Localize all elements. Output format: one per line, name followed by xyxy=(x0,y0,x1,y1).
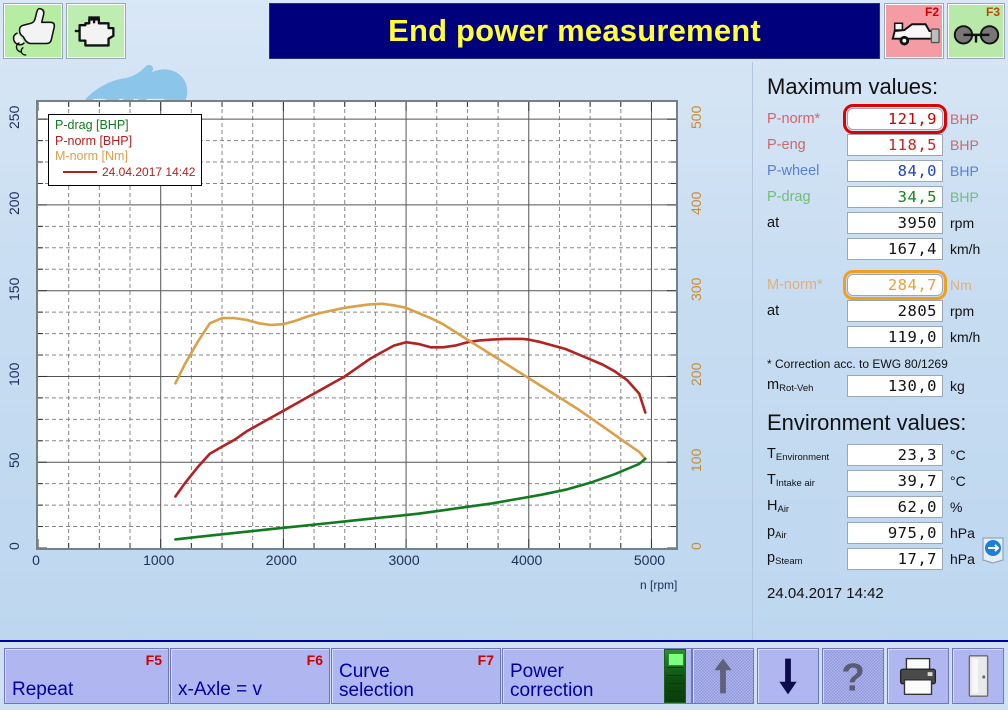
env-unit: °C xyxy=(950,473,966,489)
env-value: 62,0 xyxy=(847,496,943,518)
roller-button[interactable]: F3 xyxy=(947,3,1005,59)
curve-p-norm xyxy=(175,339,645,497)
scroll-up-button[interactable] xyxy=(692,648,754,704)
chart-legend: P-drag [BHP] P-norm [BHP] M-norm [Nm] 24… xyxy=(48,114,202,186)
max-value-unit: BHP xyxy=(950,137,979,153)
max-value-value: 34,5 xyxy=(847,186,943,208)
car-icon xyxy=(885,4,943,58)
y-tick-left: 150 xyxy=(6,271,22,307)
max-value-value: 84,0 xyxy=(847,160,943,182)
exit-button[interactable] xyxy=(952,648,1004,704)
legend-run-timestamp: 24.04.2017 14:42 xyxy=(102,165,195,179)
max-value-unit: BHP xyxy=(950,189,979,205)
max-value-unit: BHP xyxy=(950,163,979,179)
max-value-label: P-eng xyxy=(767,137,847,153)
sync-icon[interactable] xyxy=(980,534,1006,564)
y-tick-left: 100 xyxy=(6,356,22,392)
max-values-heading: Maximum values: xyxy=(767,74,1000,100)
torque-values-list: M-norm*284,7Nmat2805rpm119,0km/h xyxy=(767,272,1000,349)
max-value-row: P-norm*121,9BHP xyxy=(767,106,1000,131)
env-label: TIntake air xyxy=(767,472,847,489)
curve-p-drag xyxy=(175,459,645,540)
env-value: 23,3 xyxy=(847,444,943,466)
dyno-chart: 050100150200250 0100200300400500 0100020… xyxy=(0,62,752,640)
x-axis-title: n [rpm] xyxy=(640,578,677,592)
max-value-unit: km/h xyxy=(950,241,980,257)
function-key-label: F7 xyxy=(478,652,494,668)
mass-row: mRot-Veh 130,0 kg xyxy=(767,373,1000,398)
env-unit: hPa xyxy=(950,525,975,541)
function-button-label: x-Axle = v xyxy=(178,680,262,699)
max-value-row: P-eng118,5BHP xyxy=(767,132,1000,157)
x-tick: 2000 xyxy=(259,552,303,568)
torque-value-row: 119,0km/h xyxy=(767,324,1000,349)
max-value-row: at3950rpm xyxy=(767,210,1000,235)
y-tick-right: 300 xyxy=(688,271,704,307)
torque-value-row: at2805rpm xyxy=(767,298,1000,323)
torque-value-label: at xyxy=(767,303,847,319)
y-tick-right: 0 xyxy=(688,528,704,564)
y-tick-right: 200 xyxy=(688,356,704,392)
env-unit: °C xyxy=(950,447,966,463)
max-value-value: 3950 xyxy=(847,212,943,234)
env-row: HAir62,0% xyxy=(767,494,1000,519)
max-value-label: P-wheel xyxy=(767,163,847,179)
env-row: TEnvironment23,3°C xyxy=(767,442,1000,467)
max-value-value: 118,5 xyxy=(847,134,943,156)
env-values-heading: Environment values: xyxy=(767,410,1000,436)
legend-run-row: 24.04.2017 14:42 xyxy=(55,165,196,181)
max-value-row: P-drag34,5BHP xyxy=(767,184,1000,209)
env-label: TEnvironment xyxy=(767,446,847,463)
up-arrow-icon xyxy=(693,649,753,703)
env-value: 39,7 xyxy=(847,470,943,492)
x-tick: 5000 xyxy=(627,552,671,568)
max-value-unit: rpm xyxy=(950,215,974,231)
env-values-list: TEnvironment23,3°CTIntake air39,7°CHAir6… xyxy=(767,442,1000,571)
x-tick: 0 xyxy=(14,552,58,568)
torque-value-unit: rpm xyxy=(950,303,974,319)
env-row: TIntake air39,7°C xyxy=(767,468,1000,493)
y-tick-right: 100 xyxy=(688,442,704,478)
measurement-timestamp: 24.04.2017 14:42 xyxy=(767,585,1000,602)
max-value-row: 167,4km/h xyxy=(767,236,1000,261)
legend-item-m-norm: M-norm [Nm] xyxy=(55,149,196,165)
max-value-value: 167,4 xyxy=(847,238,943,260)
repeat-button[interactable]: F5Repeat xyxy=(4,648,169,704)
question-mark-icon: ? xyxy=(823,649,883,703)
help-button[interactable]: ? xyxy=(822,648,884,704)
legend-item-p-drag: P-drag [BHP] xyxy=(55,118,196,134)
printer-icon xyxy=(888,649,948,703)
max-value-unit: BHP xyxy=(950,111,979,127)
svg-text:?: ? xyxy=(841,656,865,699)
max-value-label: P-drag xyxy=(767,189,847,205)
y-tick-left: 250 xyxy=(6,99,22,135)
dyno-application-window: End power measurement F2 F3 PKE xyxy=(0,0,1008,708)
max-value-label: at xyxy=(767,215,847,231)
torque-value-value: 119,0 xyxy=(847,326,943,348)
x-tick: 4000 xyxy=(505,552,549,568)
mass-value: 130,0 xyxy=(847,375,943,397)
y-tick-right: 500 xyxy=(688,99,704,135)
curve-selection-button[interactable]: F7Curveselection xyxy=(331,648,501,704)
max-value-value: 121,9 xyxy=(847,108,943,130)
correction-note: * Correction acc. to EWG 80/1269 xyxy=(767,357,1000,371)
mass-unit: kg xyxy=(950,378,965,394)
page-title: End power measurement xyxy=(388,13,761,49)
max-value-label: P-norm* xyxy=(767,111,847,127)
vehicle-button[interactable]: F2 xyxy=(884,3,944,59)
env-label: HAir xyxy=(767,498,847,515)
legend-item-p-norm: P-norm [BHP] xyxy=(55,134,196,150)
torque-value-row: M-norm*284,7Nm xyxy=(767,272,1000,297)
x-tick: 1000 xyxy=(137,552,181,568)
max-value-row: P-wheel84,0BHP xyxy=(767,158,1000,183)
function-button-label: Curveselection xyxy=(339,662,414,700)
status-led-bar xyxy=(664,649,686,703)
torque-value-label: M-norm* xyxy=(767,277,847,293)
y-tick-right: 400 xyxy=(688,185,704,221)
torque-value-unit: km/h xyxy=(950,329,980,345)
ok-button[interactable] xyxy=(3,3,63,59)
function-button-label: Repeat xyxy=(12,680,73,699)
env-row: pAir975,0hPa xyxy=(767,520,1000,545)
down-arrow-icon xyxy=(758,649,818,703)
env-value: 17,7 xyxy=(847,548,943,570)
x-axle-button[interactable]: F6x-Axle = v xyxy=(170,648,330,704)
function-key-label: F6 xyxy=(307,652,323,668)
y-tick-left: 200 xyxy=(6,185,22,221)
engine-icon xyxy=(67,4,125,58)
max-values-list: P-norm*121,9BHPP-eng118,5BHPP-wheel84,0B… xyxy=(767,106,1000,261)
curve-m-norm xyxy=(175,304,645,459)
torque-value-value: 2805 xyxy=(847,300,943,322)
scroll-down-button[interactable] xyxy=(757,648,819,704)
env-label: pAir xyxy=(767,524,847,541)
legend-line-sample xyxy=(63,171,97,173)
door-icon xyxy=(953,649,1003,703)
roller-axle-icon xyxy=(948,4,1004,58)
torque-value-value: 284,7 xyxy=(847,274,943,296)
torque-value-unit: Nm xyxy=(950,277,972,293)
y-tick-left: 50 xyxy=(6,442,22,478)
env-unit: % xyxy=(950,499,962,515)
thumbs-up-icon xyxy=(4,4,62,58)
env-value: 975,0 xyxy=(847,522,943,544)
env-row: pSteam17,7hPa xyxy=(767,546,1000,571)
top-toolbar: End power measurement F2 F3 xyxy=(0,0,1008,62)
engine-button[interactable] xyxy=(66,3,126,59)
values-panel: Maximum values: P-norm*121,9BHPP-eng118,… xyxy=(752,62,1008,640)
bottom-toolbar: F5RepeatF6x-Axle = vF7CurveselectionF8Po… xyxy=(0,640,1008,710)
function-key-label: F5 xyxy=(146,652,162,668)
env-label: pSteam xyxy=(767,550,847,567)
function-button-label: Powercorrection xyxy=(510,662,593,700)
x-tick: 3000 xyxy=(382,552,426,568)
mass-label: mRot-Veh xyxy=(767,377,847,394)
env-unit: hPa xyxy=(950,551,975,567)
window-title-bar: End power measurement xyxy=(269,3,880,59)
print-button[interactable] xyxy=(887,648,949,704)
